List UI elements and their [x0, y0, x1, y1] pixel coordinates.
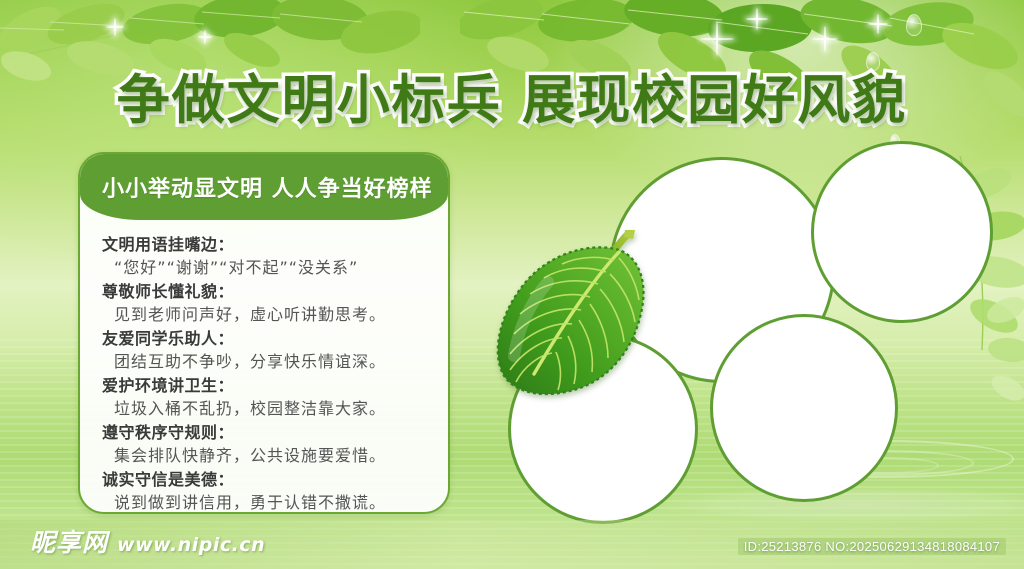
photo-frame-2[interactable] — [811, 141, 993, 323]
rule-title: 爱护环境讲卫生： — [102, 375, 432, 397]
sparkle-icon-6 — [198, 30, 212, 44]
rule-item: 友爱同学乐助人： 团结互助不争吵，分享快乐情谊深。 — [102, 328, 432, 374]
sparkle-icon-4 — [868, 14, 888, 34]
panel-body: 文明用语挂嘴边： “您好”“谢谢”“对不起”“没关系” 尊敬师长懂礼貌： 见到老… — [80, 220, 448, 514]
sparkle-icon-3 — [812, 26, 838, 52]
site-logo: 昵享网 www.nipic.cn — [30, 523, 265, 559]
sparkle-icon-2 — [746, 8, 768, 30]
rule-title: 尊敬师长懂礼貌： — [102, 281, 432, 303]
rule-item: 诚实守信是美德： 说到做到讲信用，勇于认错不撒谎。 — [102, 469, 432, 514]
rule-detail: 说到做到讲信用，勇于认错不撒谎。 — [102, 491, 432, 514]
rule-detail: 见到老师问声好，虚心听讲勤思考。 — [102, 303, 432, 327]
rule-item: 爱护环境讲卫生： 垃圾入桶不乱扔，校园整洁靠大家。 — [102, 375, 432, 421]
rule-detail: “您好”“谢谢”“对不起”“没关系” — [102, 256, 432, 280]
content-panel: 小小举动显文明 人人争当好榜样 文明用语挂嘴边： “您好”“谢谢”“对不起”“没… — [78, 152, 450, 514]
page-title: 争做文明小标兵 展现校园好风貌 — [0, 58, 1024, 134]
rule-item: 尊敬师长懂礼貌： 见到老师问声好，虚心听讲勤思考。 — [102, 281, 432, 327]
panel-header-title: 小小举动显文明 人人争当好榜样 — [102, 171, 433, 203]
sparkle-icon-1 — [700, 22, 734, 56]
site-url-text: www.nipic.cn — [117, 534, 265, 556]
rule-title: 友爱同学乐助人： — [102, 328, 432, 350]
rule-item: 文明用语挂嘴边： “您好”“谢谢”“对不起”“没关系” — [102, 234, 432, 280]
panel-header-banner: 小小举动显文明 人人争当好榜样 — [80, 154, 448, 220]
photo-frame-4[interactable] — [508, 334, 698, 524]
rule-detail: 集会排队快静齐，公共设施要爱惜。 — [102, 444, 432, 468]
site-logo-text: 昵享网 — [30, 523, 108, 559]
water-droplet-1 — [906, 14, 922, 36]
leaf-sprig-bottom-right — [986, 288, 1024, 408]
rule-item: 遵守秩序守规则： 集会排队快静齐，公共设施要爱惜。 — [102, 422, 432, 468]
image-id-label: ID:25213876 NO:20250629134818084107 — [738, 538, 1006, 555]
rule-detail: 团结互助不争吵，分享快乐情谊深。 — [102, 350, 432, 374]
sparkle-icon-5 — [106, 18, 124, 36]
rule-title: 遵守秩序守规则： — [102, 422, 432, 444]
rule-title: 文明用语挂嘴边： — [102, 234, 432, 256]
photo-frame-3[interactable] — [710, 314, 898, 502]
rule-title: 诚实守信是美德： — [102, 469, 432, 491]
rule-detail: 垃圾入桶不乱扔，校园整洁靠大家。 — [102, 397, 432, 421]
poster-canvas: 争做文明小标兵 展现校园好风貌 — [0, 0, 1024, 569]
